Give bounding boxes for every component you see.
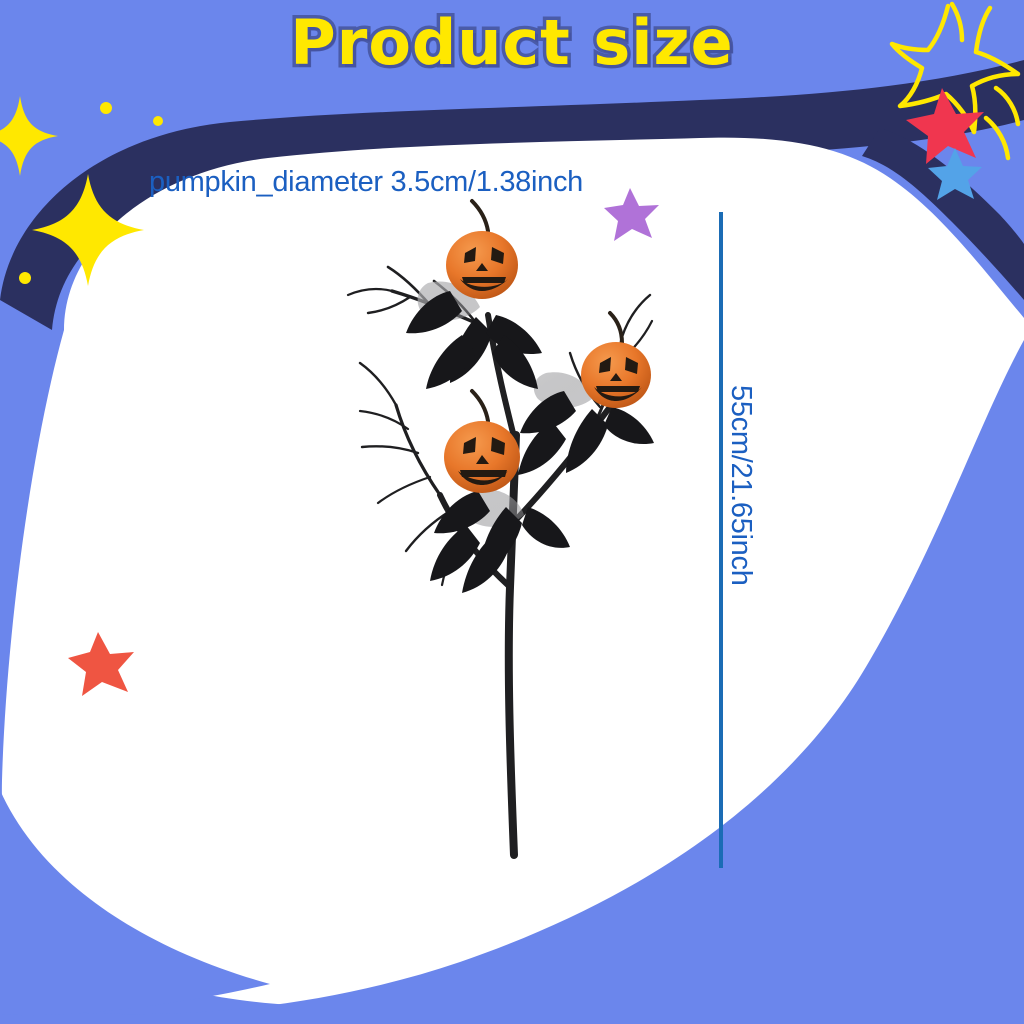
pumpkin-stalk (472, 391, 488, 421)
product-image-pumpkin-branch (300, 195, 720, 875)
dot-yellow-1 (100, 102, 112, 114)
product-size-infographic: Product size pumpkin_diameter 3.5cm/1.38… (0, 0, 1024, 1024)
dot-yellow-3 (19, 272, 31, 284)
page-title: Product size (0, 10, 1024, 75)
pumpkin-diameter-label: pumpkin_diameter 3.5cm/1.38inch (149, 166, 583, 199)
height-measurement-rule (719, 212, 723, 868)
pumpkin-stalk (472, 201, 488, 231)
black-leaves (406, 291, 654, 593)
dot-yellow-2 (153, 116, 163, 126)
pumpkin-top (446, 201, 518, 299)
pumpkin-stalk (610, 313, 622, 343)
total-height-label: 55cm/21.65inch (724, 385, 757, 586)
pumpkin-right (581, 313, 651, 408)
